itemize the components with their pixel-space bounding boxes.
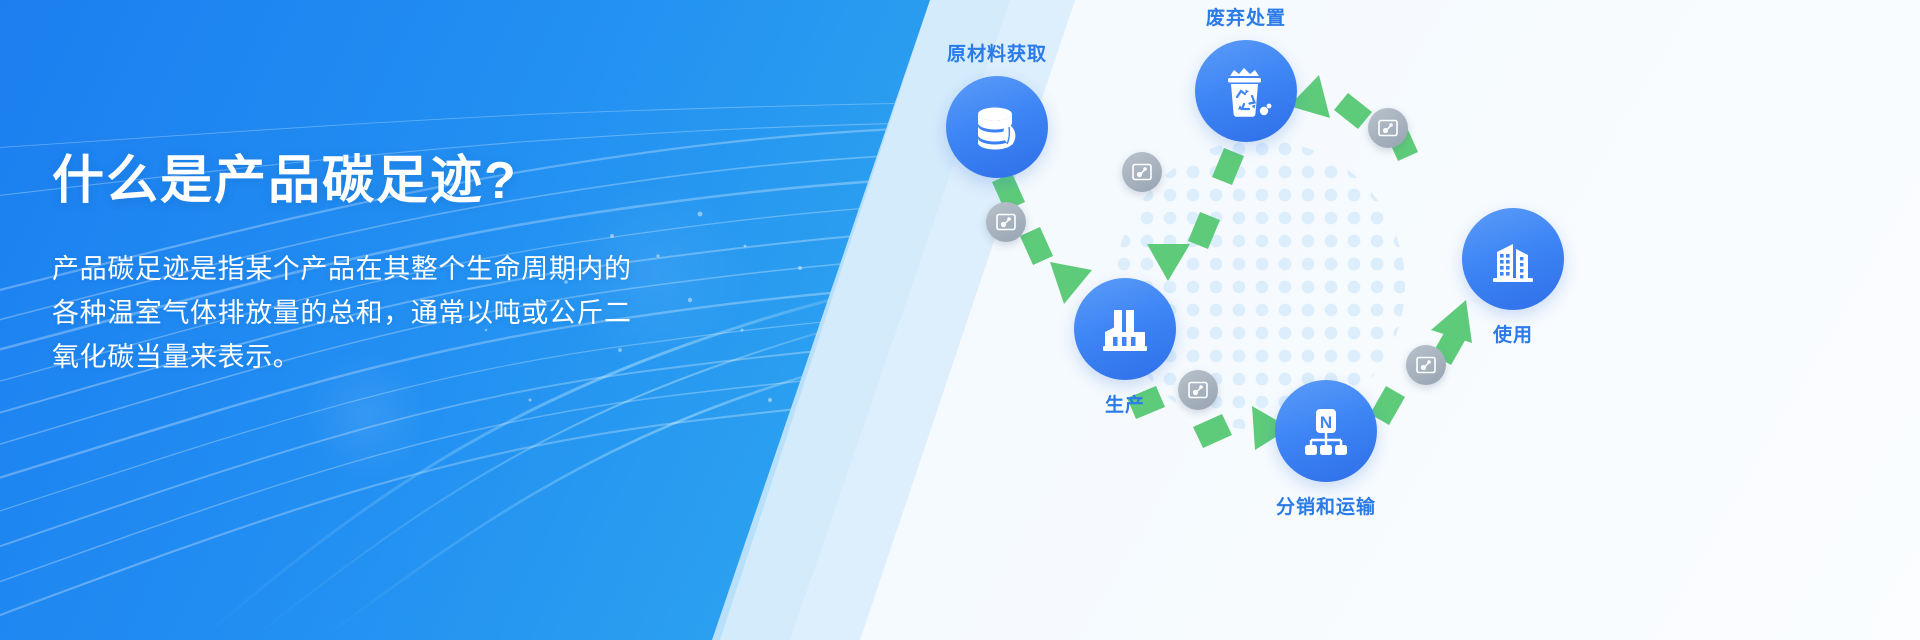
node-waste-label: 废弃处置: [1206, 3, 1286, 30]
recycle-bin-icon: [1219, 63, 1273, 119]
broken-image-icon: [1416, 356, 1436, 374]
node-production[interactable]: 生产: [1074, 278, 1176, 380]
connector-badge-production-to-distribution[interactable]: [1178, 370, 1218, 410]
node-use-label: 使用: [1493, 320, 1533, 347]
database-leaf-icon: [969, 99, 1025, 155]
node-use-bubble[interactable]: [1462, 208, 1564, 310]
hero-banner: 什么是产品碳足迹? 产品碳足迹是指某个产品在其整个生命周期内的 各种温室气体排放…: [0, 0, 1920, 640]
hero-description-line-1: 产品碳足迹是指某个产品在其整个生命周期内的: [52, 254, 632, 284]
node-distribution-bubble[interactable]: N: [1275, 380, 1377, 482]
node-use[interactable]: 使用: [1462, 208, 1564, 310]
node-raw-material[interactable]: 原材料获取: [946, 76, 1048, 178]
node-raw-material-bubble[interactable]: [946, 76, 1048, 178]
svg-text:N: N: [1320, 413, 1332, 432]
hero-description-line-3: 氧化碳当量来表示。: [52, 342, 300, 372]
distribution-n-icon: N: [1299, 403, 1353, 459]
broken-image-icon: [1132, 163, 1152, 181]
node-distribution[interactable]: 分销和运输 N: [1275, 380, 1377, 482]
node-waste[interactable]: 废弃处置: [1195, 40, 1297, 142]
page-title: 什么是产品碳足迹?: [52, 152, 752, 210]
cycle-arrows: [900, 0, 1920, 640]
hero-description: 产品碳足迹是指某个产品在其整个生命周期内的 各种温室气体排放量的总和，通常以吨或…: [52, 248, 742, 379]
connector-badge-distribution-to-use[interactable]: [1406, 345, 1446, 385]
broken-image-icon: [996, 213, 1016, 231]
node-production-label: 生产: [1105, 390, 1145, 417]
connector-badge-use-to-waste[interactable]: [1368, 108, 1408, 148]
hero-text-block: 什么是产品碳足迹? 产品碳足迹是指某个产品在其整个生命周期内的 各种温室气体排放…: [52, 152, 752, 379]
factory-icon: [1097, 302, 1153, 356]
connector-badge-waste-to-raw[interactable]: [1122, 152, 1162, 192]
node-raw-material-label: 原材料获取: [947, 39, 1047, 66]
hero-description-line-2: 各种温室气体排放量的总和，通常以吨或公斤二: [52, 298, 632, 328]
connector-badge-raw-to-production[interactable]: [986, 202, 1026, 242]
node-distribution-label: 分销和运输: [1276, 492, 1376, 519]
broken-image-icon: [1188, 381, 1208, 399]
node-production-bubble[interactable]: [1074, 278, 1176, 380]
broken-image-icon: [1378, 119, 1398, 137]
node-waste-bubble[interactable]: [1195, 40, 1297, 142]
buildings-icon: [1486, 232, 1540, 286]
lifecycle-diagram: 原材料获取 废弃处置: [900, 0, 1920, 640]
